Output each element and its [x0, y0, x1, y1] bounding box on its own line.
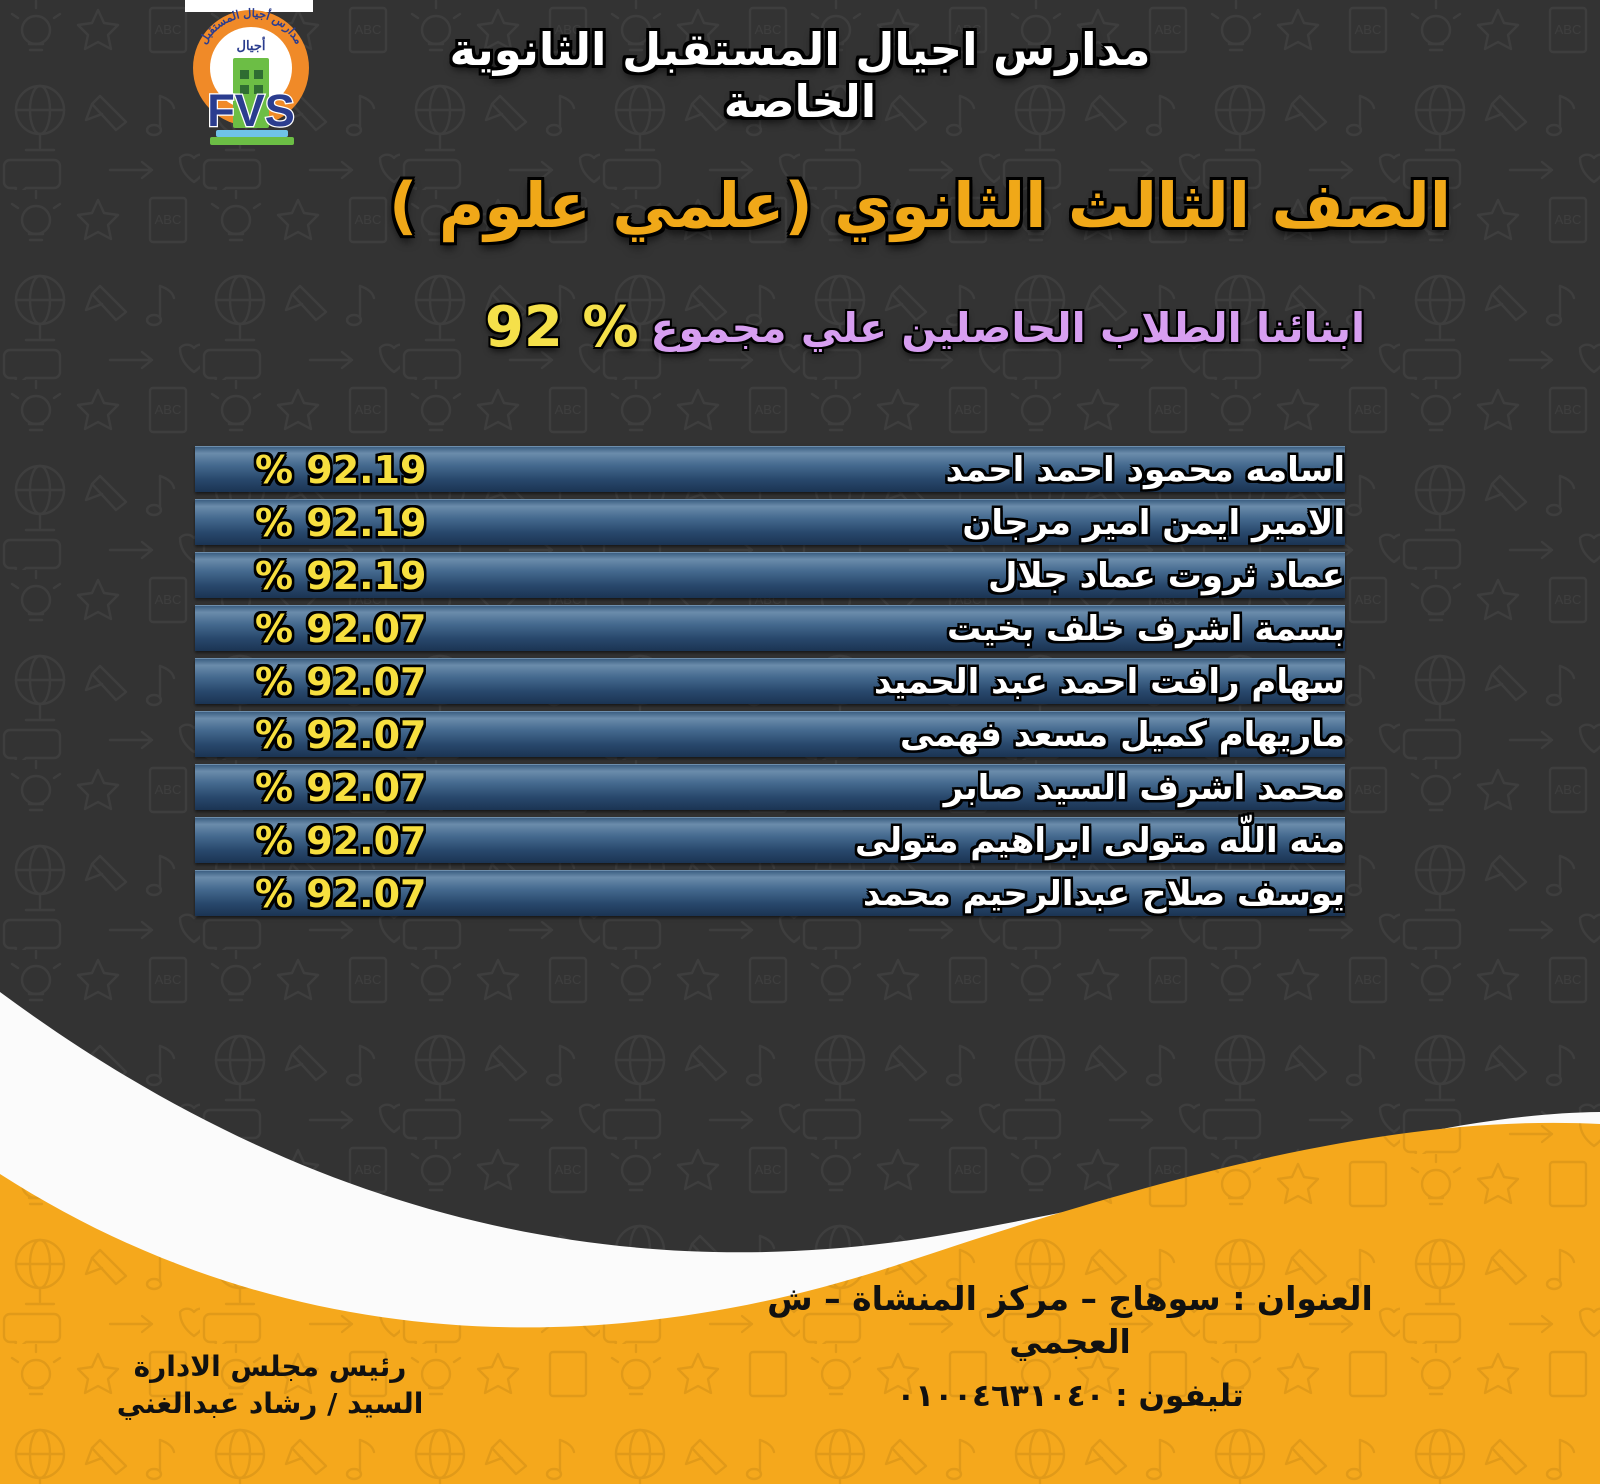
student-name: ماريهام كميل مسعد فهمى	[900, 715, 1345, 755]
student-name: محمد اشرف السيد صابر	[944, 768, 1345, 808]
poster-canvas: ABC	[0, 0, 1600, 1484]
chairman-title: رئيس مجلس الادارة	[80, 1349, 460, 1385]
student-score: % 92.19	[195, 554, 427, 598]
phone-line: تليفون : ٠١٠٠٤٦٣١٠٤٠	[710, 1376, 1430, 1416]
student-score: % 92.07	[195, 713, 427, 757]
student-name: بسمة اشرف خلف بخيت	[947, 609, 1345, 649]
svg-text:FVS: FVS	[207, 85, 295, 136]
student-name: اسامه محمود احمد احمد	[946, 450, 1345, 490]
table-row: سهام رافت احمد عبد الحميد % 92.07	[195, 658, 1345, 704]
student-name: يوسف صلاح عبدالرحيم محمد	[863, 874, 1345, 914]
student-score: % 92.07	[195, 607, 427, 651]
grade-title: الصف الثالث الثانوي (علمي علوم )	[0, 170, 1600, 241]
subtitle: ابنائنا الطلاب الحاصلين علي مجموع% 92	[0, 296, 1600, 360]
table-row: عماد ثروت عماد جلال % 92.19	[195, 552, 1345, 598]
table-row: منه اللّه متولى ابراهيم متولى % 92.07	[195, 817, 1345, 863]
subtitle-label: ابنائنا الطلاب الحاصلين علي مجموع	[650, 304, 1365, 352]
footer-contact: العنوان : سوهاج – مركز المنشاة – ش العجم…	[710, 1278, 1430, 1416]
results-table: اسامه محمود احمد احمد % 92.19 الامير ايم…	[195, 446, 1345, 916]
table-row: بسمة اشرف خلف بخيت % 92.07	[195, 605, 1345, 651]
chairman-name: السيد / رشاد عبدالغني	[80, 1386, 460, 1422]
student-score: % 92.07	[195, 660, 427, 704]
subtitle-percent: % 92	[485, 295, 639, 360]
svg-text:أجيال: أجيال	[237, 37, 266, 53]
table-row: ماريهام كميل مسعد فهمى % 92.07	[195, 711, 1345, 757]
table-row: اسامه محمود احمد احمد % 92.19	[195, 446, 1345, 492]
table-row: الامير ايمن امير مرجان % 92.19	[195, 499, 1345, 545]
page-title: مدارس اجيال المستقبل الثانوية الخاصة	[400, 24, 1200, 128]
student-score: % 92.07	[195, 872, 427, 916]
student-name: سهام رافت احمد عبد الحميد	[874, 662, 1345, 702]
student-name: عماد ثروت عماد جلال	[988, 556, 1345, 596]
table-row: يوسف صلاح عبدالرحيم محمد % 92.07	[195, 870, 1345, 916]
student-score: % 92.19	[195, 501, 427, 545]
student-score: % 92.07	[195, 819, 427, 863]
student-score: % 92.07	[195, 766, 427, 810]
address-line: العنوان : سوهاج – مركز المنشاة – ش العجم…	[710, 1278, 1430, 1364]
table-row: محمد اشرف السيد صابر % 92.07	[195, 764, 1345, 810]
footer-chairman: رئيس مجلس الادارة السيد / رشاد عبدالغني	[80, 1349, 460, 1422]
student-name: الامير ايمن امير مرجان	[962, 503, 1345, 543]
student-score: % 92.19	[195, 448, 427, 492]
student-name: منه اللّه متولى ابراهيم متولى	[855, 821, 1345, 861]
school-logo: مدارس أجيال المستقبل أجيال FVS	[176, 4, 326, 164]
